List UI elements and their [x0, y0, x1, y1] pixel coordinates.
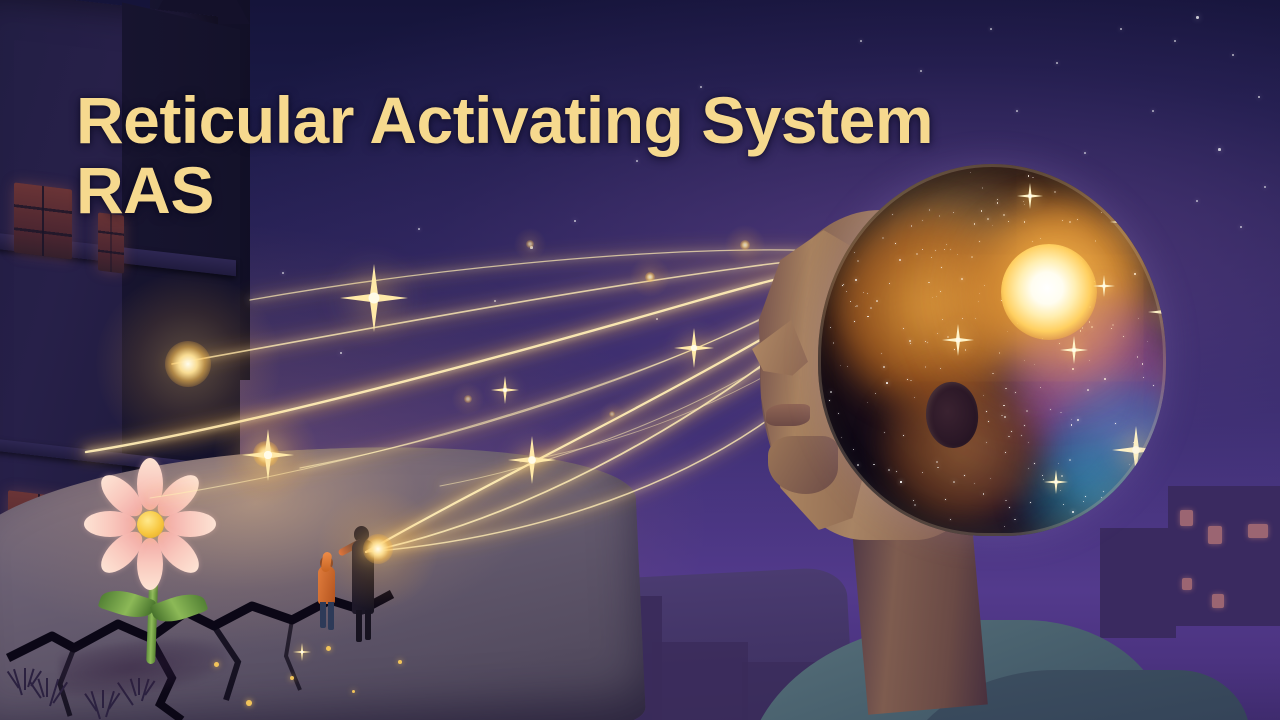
- brain-star: [837, 255, 839, 257]
- brain-star: [856, 305, 858, 307]
- brain-star: [1148, 265, 1150, 267]
- brain-star: [843, 284, 844, 285]
- light-orb: [645, 272, 655, 282]
- brain-star: [1091, 326, 1093, 328]
- chin: [768, 436, 838, 494]
- brain-star: [950, 249, 951, 250]
- brain-star: [925, 341, 926, 342]
- brain-star: [855, 279, 856, 280]
- sky-star: [656, 318, 658, 320]
- light-orb: [526, 240, 534, 248]
- brain-star: [854, 252, 855, 253]
- brain-star: [857, 464, 859, 466]
- brain-star: [983, 493, 984, 494]
- brain-star: [986, 442, 987, 443]
- brain-star: [914, 397, 915, 398]
- brain-star: [1143, 377, 1144, 378]
- brain-star: [1115, 423, 1116, 424]
- illustration-canvas: Reticular Activating System RAS: [0, 0, 1280, 720]
- brain-star: [953, 481, 955, 483]
- brain-star: [1004, 416, 1006, 418]
- brain-star: [838, 413, 839, 414]
- child-leg: [320, 602, 326, 628]
- brain-star: [1042, 475, 1043, 476]
- brain-star: [895, 243, 896, 244]
- brain-star: [936, 296, 937, 297]
- brain-star: [1030, 502, 1031, 503]
- brain-star: [876, 300, 878, 302]
- brain-star: [883, 366, 884, 367]
- brain-star: [1085, 496, 1086, 497]
- ground-sparkle: [398, 660, 402, 664]
- brain-star: [940, 291, 941, 292]
- brain-star: [1159, 421, 1160, 422]
- brain-star: [1005, 500, 1006, 501]
- brain-star: [899, 259, 901, 261]
- sky-star: [1196, 16, 1199, 19]
- light-orb: [363, 534, 393, 564]
- brain-star: [925, 366, 926, 367]
- building-window: [14, 182, 72, 259]
- lips: [766, 404, 810, 426]
- ground-sparkle: [246, 700, 252, 706]
- light-orb: [464, 395, 472, 403]
- brain-star: [1137, 356, 1138, 357]
- brain-star: [978, 301, 979, 302]
- brain-star: [1157, 530, 1158, 531]
- light-orb: [165, 341, 211, 387]
- brain-star: [1014, 519, 1015, 520]
- brain-star: [916, 253, 918, 255]
- brain-star: [879, 501, 881, 503]
- flower-leaf: [150, 587, 209, 628]
- brain-star: [907, 379, 908, 380]
- light-orb: [253, 441, 279, 467]
- brain-star: [1134, 273, 1135, 274]
- sky-star: [282, 272, 284, 274]
- brain-star: [992, 373, 993, 374]
- brain-star: [914, 504, 916, 506]
- brain-star: [1104, 378, 1106, 380]
- brain-star: [853, 449, 854, 450]
- brain-star: [988, 421, 989, 422]
- brain-star: [932, 297, 933, 298]
- brain-star: [1043, 479, 1044, 480]
- brain-star: [950, 519, 951, 520]
- brain-star: [867, 316, 869, 318]
- brain-star: [820, 473, 821, 474]
- brain-star: [954, 349, 955, 350]
- brain-star: [863, 292, 864, 293]
- brain-star: [882, 237, 884, 239]
- brain-star: [1138, 318, 1139, 319]
- sky-star: [990, 28, 992, 30]
- adult-leg: [356, 610, 362, 642]
- brain-star: [1009, 507, 1010, 508]
- brain-star: [990, 478, 991, 479]
- brain-star: [829, 400, 830, 401]
- brain-star: [928, 282, 929, 283]
- brain-star: [983, 395, 984, 396]
- brain-star: [974, 483, 975, 484]
- light-orb: [609, 411, 615, 417]
- sky-star: [1056, 62, 1058, 64]
- brain-star: [900, 481, 901, 482]
- sky-star: [494, 300, 496, 302]
- window-mullions: [14, 182, 72, 259]
- brain-star: [1123, 504, 1125, 506]
- brain-star: [832, 468, 833, 469]
- brain-star: [986, 411, 987, 412]
- brain-star: [857, 260, 859, 262]
- grass-blade: [46, 678, 48, 697]
- brain-core-glow: [1001, 244, 1097, 340]
- brain-star: [1050, 409, 1051, 410]
- brain-star: [945, 499, 946, 500]
- sky-star: [860, 40, 862, 42]
- brain-star: [823, 498, 825, 500]
- brain-star: [1059, 343, 1060, 344]
- brain-star: [842, 285, 843, 286]
- brain-star: [1011, 431, 1012, 432]
- brain-star: [854, 321, 855, 322]
- brain-star: [961, 278, 962, 279]
- brain-star: [1077, 419, 1078, 420]
- brain-star: [1005, 452, 1006, 453]
- brain-star: [1060, 412, 1062, 414]
- brain-star: [1101, 497, 1102, 498]
- brain-star: [827, 234, 828, 235]
- sky-star: [1120, 28, 1122, 30]
- sky-star: [1174, 40, 1176, 42]
- brain-star: [971, 256, 973, 258]
- brain-star: [903, 328, 904, 329]
- brain-star: [964, 475, 965, 476]
- brain-star: [979, 241, 980, 242]
- brain-star: [881, 353, 882, 354]
- daisy-flower: [96, 488, 216, 688]
- brain-star: [867, 293, 868, 294]
- brain-star: [830, 391, 832, 393]
- brain-star: [946, 244, 947, 245]
- brain-star: [1071, 419, 1072, 420]
- brain-star: [1024, 425, 1025, 426]
- brain-star: [903, 435, 904, 436]
- foreground-building: [652, 642, 748, 720]
- brain-star: [1015, 392, 1016, 393]
- brain-star: [840, 365, 841, 366]
- brain-star: [867, 402, 868, 403]
- brain-star: [819, 505, 820, 506]
- brain-star: [909, 340, 910, 341]
- brain-star: [869, 529, 871, 531]
- sky-star: [920, 70, 922, 72]
- brain-star: [910, 343, 911, 344]
- page-title: Reticular Activating System RAS: [76, 86, 1256, 226]
- brain-star: [1129, 464, 1130, 465]
- brain-star: [965, 349, 966, 350]
- brain-star: [886, 382, 888, 384]
- brain-star: [873, 464, 875, 466]
- sky-star: [418, 228, 420, 230]
- adult-leg: [365, 610, 371, 640]
- brain-star: [975, 318, 976, 319]
- brain-star: [896, 471, 897, 472]
- profile-head: [740, 150, 1280, 720]
- brain-star: [847, 531, 848, 532]
- brain-star: [1069, 459, 1071, 461]
- brain-star: [1034, 364, 1035, 365]
- brain-star: [1004, 526, 1005, 527]
- brain-star: [1058, 463, 1059, 464]
- brain-star: [888, 469, 890, 471]
- brain-star: [910, 380, 911, 381]
- flower-center: [137, 511, 164, 538]
- brain-star: [935, 250, 936, 251]
- grass-blade: [24, 668, 26, 690]
- brain-star: [1072, 511, 1073, 512]
- brain-star: [1034, 463, 1035, 464]
